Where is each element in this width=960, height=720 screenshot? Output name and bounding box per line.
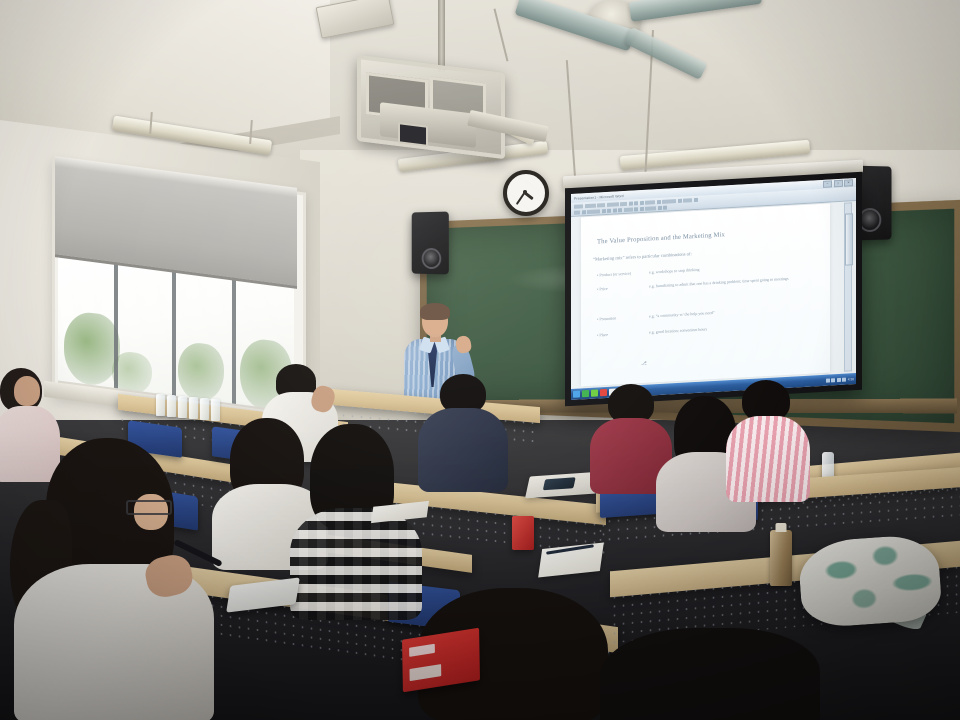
- projector-mount-pole: [438, 0, 445, 72]
- taskbar-clock[interactable]: 4:38: [848, 377, 854, 381]
- slide-page: The Value Proposition and the Marketing …: [581, 203, 830, 386]
- slide-bullet-row: • Price e.g. humiliating to admit that o…: [597, 274, 824, 292]
- slide-bullet-value: e.g. “a community w/ the help you need”: [649, 304, 824, 319]
- taskbar-icon[interactable]: [582, 390, 589, 397]
- text-cursor-icon: ⎇: [641, 361, 647, 367]
- wall-clock: [503, 170, 549, 216]
- lecturer-hand: [455, 335, 473, 354]
- projection-screen[interactable]: Presentation1 - Microsoft Word – □ ✕: [565, 172, 862, 407]
- minimize-button[interactable]: –: [823, 180, 832, 188]
- slide-lead-in: “Marketing mix” refers to particular com…: [593, 244, 822, 262]
- foreground-shadow: [0, 430, 960, 720]
- slide-bullet-label: • Product (or service): [597, 270, 649, 278]
- tray-icon[interactable]: [831, 378, 835, 382]
- slide-bullet-row: • Promotion e.g. “a community w/ the hel…: [597, 304, 824, 322]
- taskbar-icon[interactable]: [573, 390, 580, 397]
- slide-bullet-label: • Price: [597, 284, 649, 292]
- scrollbar-thumb[interactable]: [845, 213, 853, 266]
- app-title-text: Presentation1 - Microsoft Word: [574, 194, 624, 201]
- clock-center-pin: [523, 190, 527, 194]
- maximize-button[interactable]: □: [834, 180, 843, 188]
- slide-bullet-label: • Promotion: [597, 314, 649, 322]
- document-scrollbar[interactable]: [844, 202, 852, 371]
- slide-title: The Value Proposition and the Marketing …: [597, 226, 822, 246]
- close-button[interactable]: ✕: [844, 179, 853, 187]
- lecturer-hair: [420, 303, 450, 320]
- slide-bullet-value: e.g. humiliating to admit that one has a…: [649, 274, 824, 289]
- tray-icon[interactable]: [826, 378, 830, 382]
- slide-bullet-row: • Place e.g. good location; convenient h…: [597, 320, 824, 338]
- slide-bullet-value: e.g. workshops to stop drinking: [649, 260, 824, 275]
- projector-lens-icon: [398, 122, 428, 147]
- slide-bullet-value: e.g. good location; convenient hours: [649, 320, 824, 335]
- system-tray[interactable]: 4:38: [826, 377, 854, 383]
- tray-icon[interactable]: [842, 377, 846, 381]
- slide-bullet-label: • Place: [597, 330, 649, 338]
- classroom-scene: Presentation1 - Microsoft Word – □ ✕: [0, 0, 960, 720]
- wall-speaker-left: [412, 212, 449, 275]
- tray-icon[interactable]: [837, 377, 841, 381]
